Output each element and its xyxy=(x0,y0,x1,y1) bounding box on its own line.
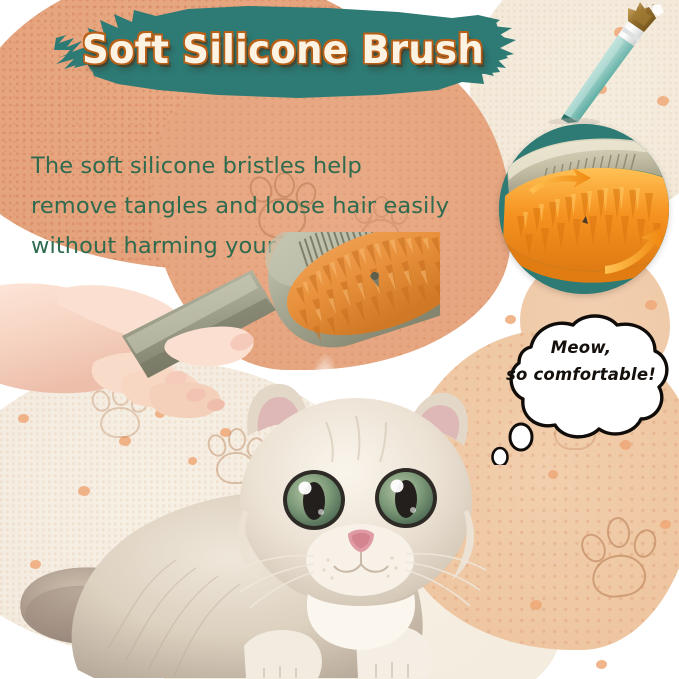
page-title: Soft Silicone Brush xyxy=(48,16,518,82)
paintbrush-icon xyxy=(548,2,668,124)
paw-speck xyxy=(596,660,607,669)
paw-print-icon xyxy=(580,515,662,593)
product-infographic: Soft Silicone Brush xyxy=(0,0,679,679)
cat-photo xyxy=(8,378,568,679)
description-line-1: The soft silicone bristles help xyxy=(31,146,491,186)
speech-bubble-line-1: Meow, xyxy=(505,334,657,361)
description-line-2: remove tangles and loose hair easily xyxy=(31,186,491,226)
speech-bubble-text: Meow, so comfortable! xyxy=(505,334,657,388)
speech-bubble-line-2: so comfortable! xyxy=(505,361,657,388)
paw-speck xyxy=(645,300,657,310)
brush-head-detail-inset xyxy=(499,124,669,294)
